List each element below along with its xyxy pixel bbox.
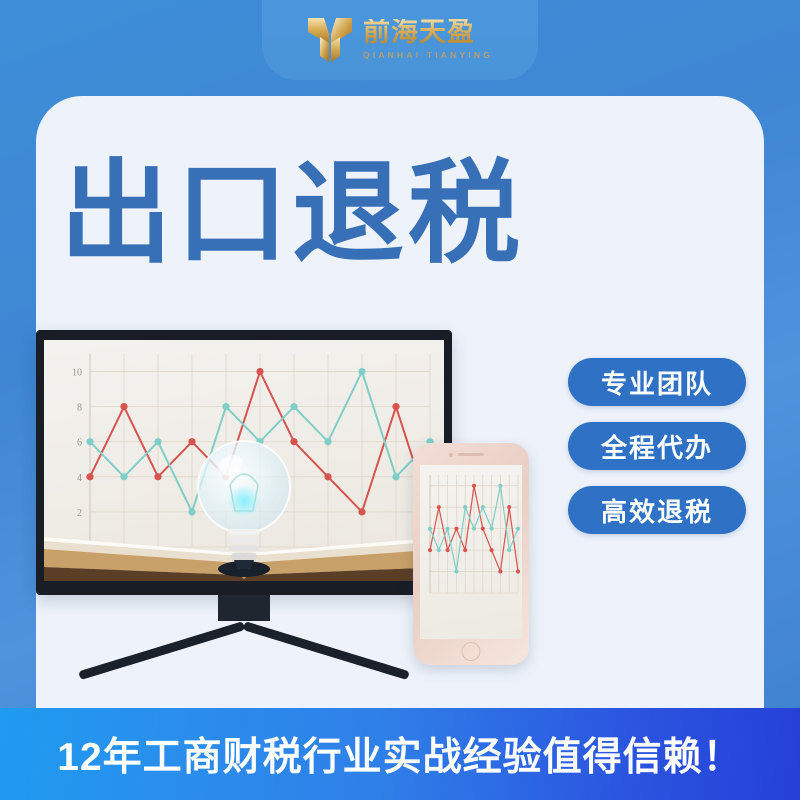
brand-name-cn: 前海天盈: [363, 19, 475, 46]
phone-home-button[interactable]: [462, 642, 481, 661]
svg-text:6: 6: [77, 438, 82, 449]
bottom-banner: 12年工商财税行业实战经验值得信赖！: [0, 708, 800, 800]
monitor-neck: [218, 595, 270, 621]
svg-text:4: 4: [77, 473, 82, 484]
promo-poster: 前海天盈 QIANHAI TIANYING 出口退税 024681010%20%…: [0, 0, 800, 800]
monitor-stand: [94, 621, 394, 669]
page-title: 出口退税: [60, 158, 524, 270]
bottom-banner-text: 12年工商财税行业实战经验值得信赖！: [57, 726, 742, 782]
brand-logo: 前海天盈 QIANHAI TIANYING: [0, 14, 800, 64]
badge-professional-team[interactable]: 专业团队: [568, 358, 746, 406]
desktop-monitor: 024681010%20%30%40%50%60%70%80%90%100%: [36, 330, 452, 669]
badge-full-agency-service[interactable]: 全程代办: [568, 422, 746, 470]
phone-speaker-icon: [458, 453, 484, 456]
svg-text:2: 2: [77, 508, 82, 519]
monitor-bezel: 024681010%20%30%40%50%60%70%80%90%100%: [36, 330, 452, 595]
smartphone: [413, 443, 529, 665]
phone-screen: [420, 465, 522, 639]
phone-camera-icon: [449, 453, 453, 457]
brand-name-en: QIANHAI TIANYING: [363, 50, 493, 60]
qianhai-tianying-logo-mark: [307, 14, 353, 64]
svg-text:10: 10: [72, 368, 82, 379]
lightbulb-icon: [190, 425, 298, 575]
badge-efficient-rebate[interactable]: 高效退税: [568, 486, 746, 534]
svg-text:8: 8: [77, 403, 82, 414]
feature-badges: 专业团队 全程代办 高效退税: [568, 358, 746, 534]
monitor-screen: 024681010%20%30%40%50%60%70%80%90%100%: [44, 340, 444, 581]
